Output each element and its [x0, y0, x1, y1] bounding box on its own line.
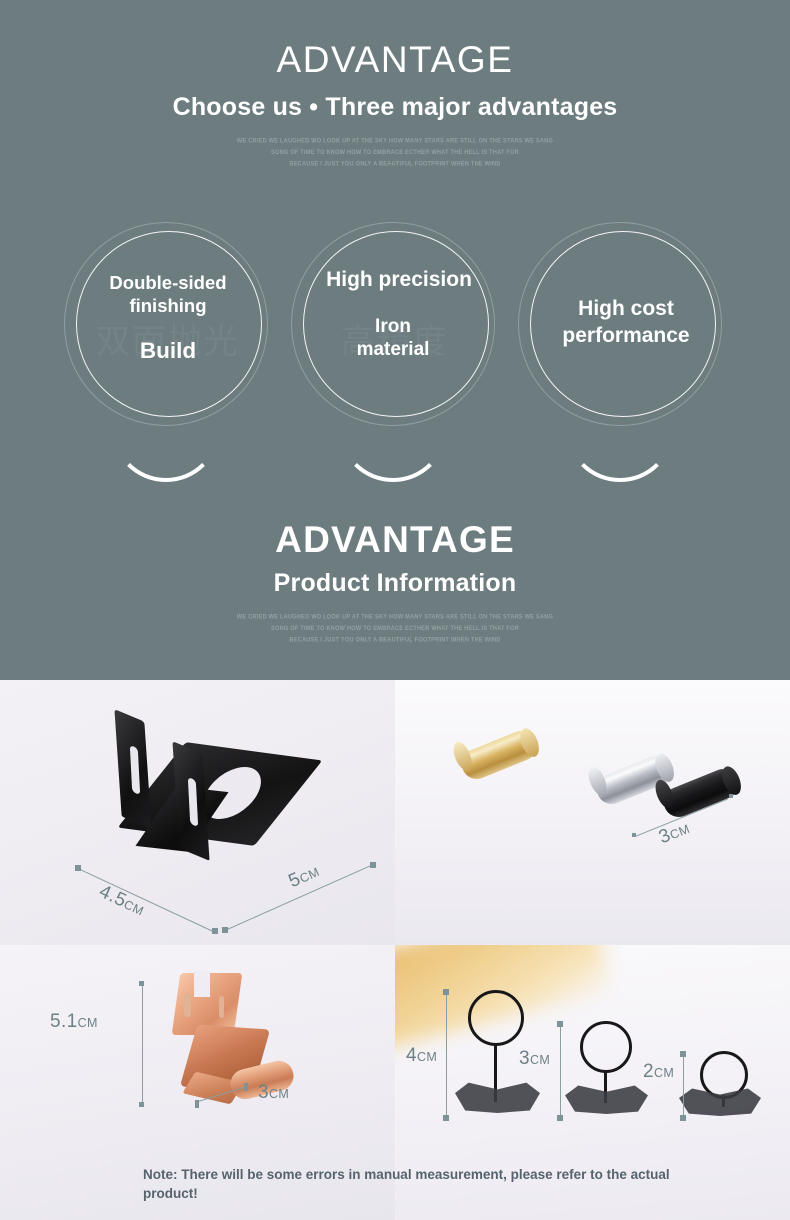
circle-main-label-1: Double-sided finishing	[109, 271, 226, 317]
ring-stand-loop	[468, 990, 524, 1046]
dimension-cap	[195, 1100, 199, 1108]
micro-line-2: SONG OF TIME TO KNOW HOW TO EMBRACE ECTH…	[0, 147, 790, 159]
dimension-cap	[443, 1115, 449, 1121]
clip-holes	[184, 993, 191, 1017]
dimension-cap	[729, 794, 733, 798]
dimension-cap	[222, 927, 228, 933]
dimension-leader-2cm	[683, 1055, 684, 1119]
circle-text-group-2: High precision Iron material	[291, 222, 499, 430]
dimension-cap	[244, 1083, 248, 1091]
dimension-label-4-5cm: 4.5CM	[95, 881, 148, 921]
dimension-label-4cm: 4CM	[406, 1045, 437, 1067]
measurement-note: Note: There will be some errors in manua…	[143, 1165, 683, 1203]
micro-line-3: BECAUSE I JUST YOU ONLY A BEAUTIFUL FOOT…	[0, 635, 790, 647]
page-title: ADVANTAGE	[0, 38, 790, 82]
product-info-title: ADVANTAGE	[0, 518, 790, 562]
dimension-cap	[680, 1115, 686, 1121]
clip-notch	[194, 971, 210, 997]
black-bookend-product-image	[110, 715, 300, 850]
dimension-leader-3cm	[560, 1025, 561, 1119]
dimension-cap	[680, 1051, 686, 1057]
circle-text-group-1: Double-sided finishing Build	[64, 222, 272, 430]
micro-line-2: SONG OF TIME TO KNOW HOW TO EMBRACE ECTH…	[0, 623, 790, 635]
ring-stand-base	[455, 1081, 540, 1113]
dimension-cap	[632, 833, 636, 837]
decorative-micro-copy-one: WE CRIED WE LAUGHED WO LOOK UP AT THE SK…	[0, 136, 790, 171]
circle-sub-label-1: Build	[140, 339, 196, 363]
dimension-cap	[139, 981, 144, 986]
ring-stand-loop	[580, 1021, 632, 1073]
dimension-cap	[443, 989, 449, 995]
dimension-label-2cm: 2CM	[643, 1061, 674, 1083]
dimension-cap	[139, 1102, 144, 1107]
feature-circle-high-precision: 高精度 High precision Iron material	[291, 222, 499, 430]
advantage-banner: ADVANTAGE Choose us • Three major advant…	[0, 0, 790, 680]
dimension-leader-4cm	[446, 993, 447, 1119]
product-photo-grid: 4.5CM 5CM 3CM 5.1CM	[0, 680, 790, 1220]
dimension-label-5-1cm: 5.1CM	[50, 1011, 98, 1033]
product-photo-metal-cylinders: 3CM	[395, 680, 790, 945]
dimension-cap	[557, 1115, 563, 1121]
advantage-title-block-one: ADVANTAGE Choose us • Three major advant…	[0, 38, 790, 168]
feature-circle-double-sided-finishing: 双面抛光 Double-sided finishing Build	[64, 222, 272, 430]
advantage-title-block-two: ADVANTAGE Product Information WE CRIED W…	[0, 518, 790, 644]
circle-sub-label-2: Iron material	[357, 315, 430, 361]
circle-main-label-3: High cost performance	[562, 295, 689, 349]
dimension-cap	[557, 1021, 563, 1027]
rose-gold-clip-product-image	[158, 973, 308, 1138]
feature-circle-row: 双面抛光 Double-sided finishing Build 高精度 Hi…	[0, 216, 790, 431]
dimension-cap	[75, 865, 81, 871]
dimension-leader-5-1cm	[142, 985, 143, 1105]
micro-line-1: WE CRIED WE LAUGHED WO LOOK UP AT THE SK…	[0, 612, 790, 624]
feature-circle-high-cost-performance: High cost performance	[518, 222, 726, 430]
micro-line-3: BECAUSE I JUST YOU ONLY A BEAUTIFUL FOOT…	[0, 159, 790, 171]
micro-line-1: WE CRIED WE LAUGHED WO LOOK UP AT THE SK…	[0, 136, 790, 148]
dimension-label-3cm: 3CM	[519, 1048, 550, 1070]
decorative-micro-copy-two: WE CRIED WE LAUGHED WO LOOK UP AT THE SK…	[0, 612, 790, 647]
page-subtitle: Choose us • Three major advantages	[0, 89, 790, 125]
circle-text-group-3: High cost performance	[518, 222, 726, 430]
circle-main-label-2: High precision	[326, 268, 472, 291]
dimension-label-3cm: 3CM	[258, 1082, 289, 1104]
product-photo-black-bookend: 4.5CM 5CM	[0, 680, 395, 945]
product-info-subtitle: Product Information	[0, 565, 790, 601]
dimension-cap	[370, 862, 376, 868]
dimension-cap	[212, 928, 218, 934]
dimension-label-3cm: 3CM	[656, 817, 693, 849]
